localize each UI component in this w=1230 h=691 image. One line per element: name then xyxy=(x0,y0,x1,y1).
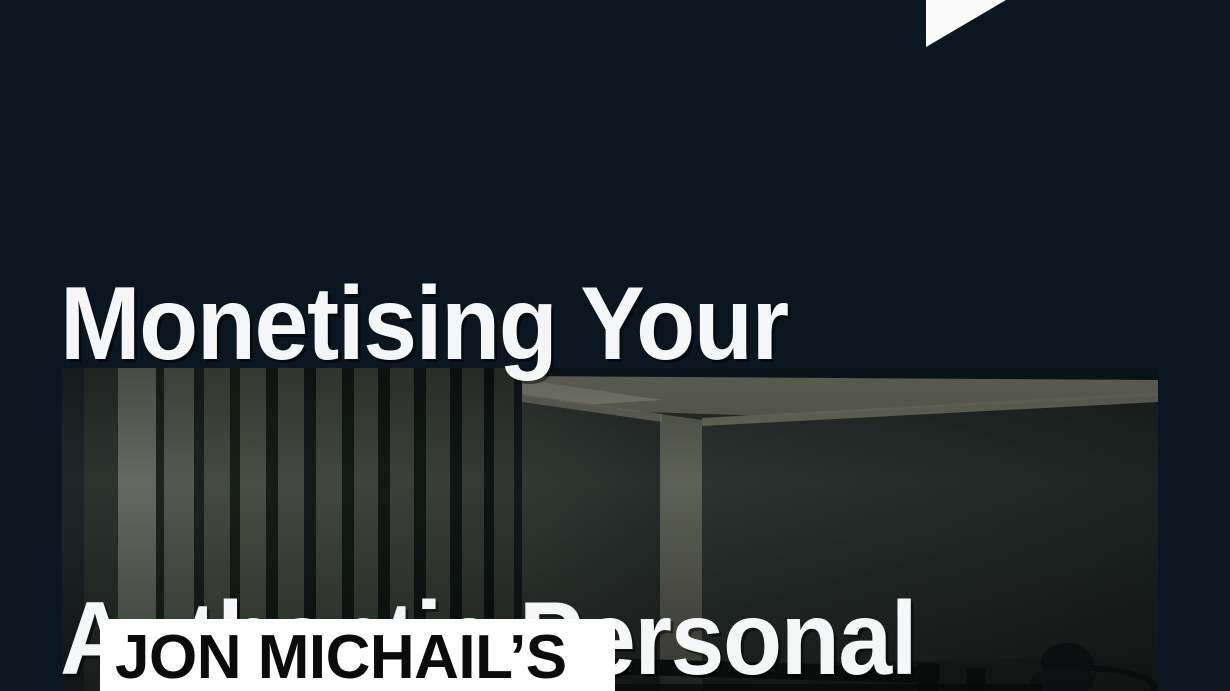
presenter-name-banner: JON MICHAIL’S xyxy=(100,619,615,691)
slide-headline: Monetising Your Authentic Personal Brand xyxy=(60,62,1064,691)
presenter-name-text: JON MICHAIL’S xyxy=(115,627,567,689)
corner-triangle-accent xyxy=(926,0,1006,47)
title-slide: Monetising Your Authentic Personal Brand… xyxy=(0,0,1230,691)
headline-line-1: Monetising Your xyxy=(60,272,1064,377)
